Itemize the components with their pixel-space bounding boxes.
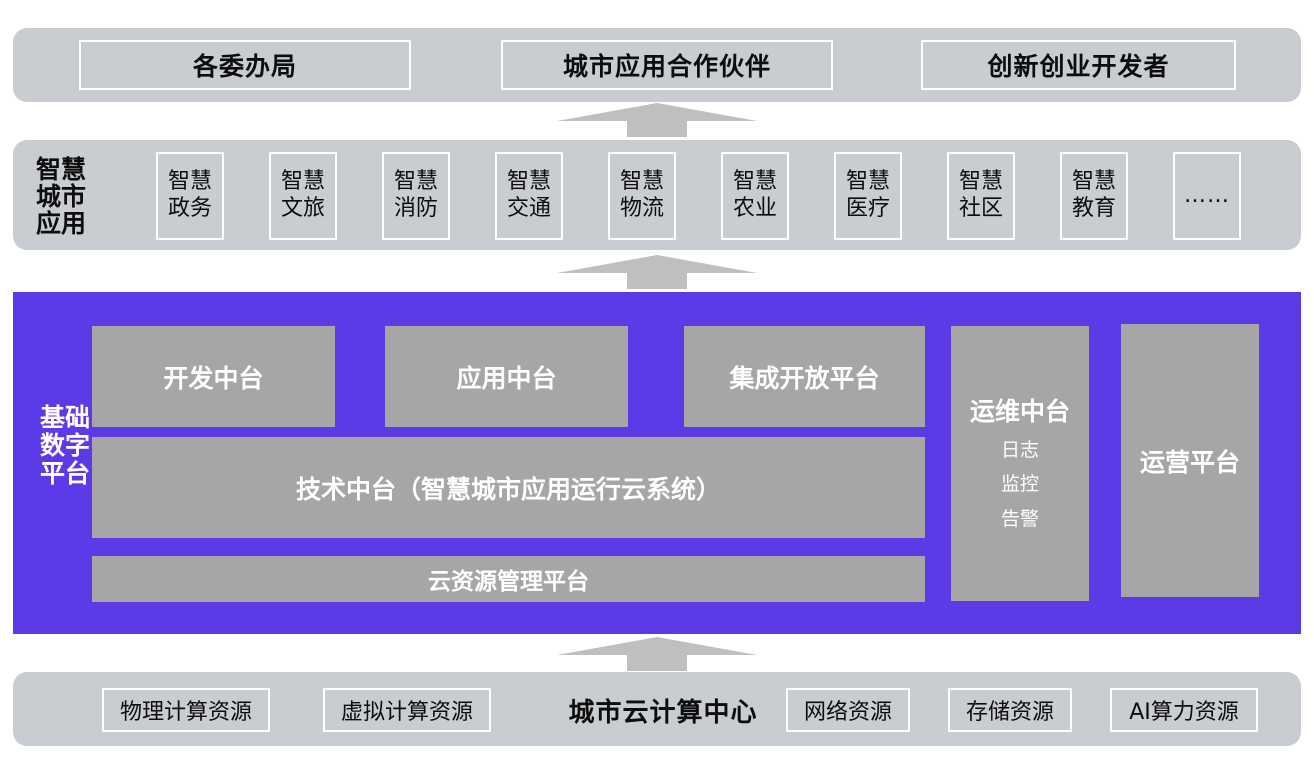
app-label-line2: 文旅 (281, 196, 325, 223)
platform-box-integration-open-platform[interactable]: 集成开放平台 (684, 326, 925, 427)
app-label-line2: 消防 (394, 196, 438, 223)
up-arrow-icon-top (557, 103, 757, 137)
app-box-smart-firefighting[interactable]: 智慧 消防 (382, 152, 450, 240)
app-label-line1: 智慧 (281, 169, 325, 196)
app-label-line2: 医疗 (846, 196, 890, 223)
resource-box-physical-compute[interactable]: 物理计算资源 (102, 688, 270, 732)
app-box-smart-healthcare[interactable]: 智慧 医疗 (834, 152, 902, 240)
app-box-smart-government[interactable]: 智慧 政务 (156, 152, 224, 240)
apps-side-label-line3: 应用 (36, 210, 86, 237)
top-consumer-bar: 各委办局 城市应用合作伙伴 创新创业开发者 (13, 28, 1301, 102)
top-box-innovation-developers[interactable]: 创新创业开发者 (921, 40, 1236, 90)
city-cloud-center-title: 城市云计算中心 (555, 688, 771, 732)
up-arrow-icon-bottom (557, 637, 757, 671)
up-arrow-icon-middle (557, 255, 757, 289)
resource-box-storage[interactable]: 存储资源 (948, 688, 1072, 732)
app-label-line2: 政务 (168, 196, 212, 223)
ops-sub-item-monitor: 监控 (1001, 474, 1039, 495)
platform-box-dev-mid-platform[interactable]: 开发中台 (92, 326, 335, 427)
platform-side-label-line1: 基础 (40, 404, 90, 432)
app-label-line1: 智慧 (620, 169, 664, 196)
resource-box-network[interactable]: 网络资源 (786, 688, 910, 732)
app-label-line2: 农业 (733, 196, 777, 223)
app-label-line1: 智慧 (394, 169, 438, 196)
platform-box-ops-mid-platform[interactable]: 运维中台 日志 监控 告警 (951, 326, 1089, 601)
app-label-line1: 智慧 (507, 169, 551, 196)
platform-box-app-mid-platform[interactable]: 应用中台 (385, 326, 628, 427)
platform-side-label: 基础 数字 平台 (32, 404, 98, 488)
app-label-line1: 智慧 (846, 169, 890, 196)
app-label-line2: 物流 (620, 196, 664, 223)
app-box-smart-logistics[interactable]: 智慧 物流 (608, 152, 676, 240)
platform-side-label-line3: 平台 (40, 460, 90, 488)
resource-box-virtual-compute[interactable]: 虚拟计算资源 (323, 688, 491, 732)
ops-mid-platform-title: 运维中台 (970, 398, 1070, 426)
platform-box-cloud-resource-management[interactable]: 云资源管理平台 (92, 556, 925, 602)
app-box-smart-transport[interactable]: 智慧 交通 (495, 152, 563, 240)
apps-row-side-label: 智慧 城市 应用 (24, 152, 98, 240)
app-label-line2: 交通 (507, 196, 551, 223)
smart-city-application-bar: 智慧 城市 应用 智慧 政务 智慧 文旅 智慧 消防 智慧 交通 智慧 物流 智… (13, 140, 1301, 250)
app-box-more-ellipsis[interactable]: …… (1173, 152, 1241, 240)
platform-box-tech-mid-platform[interactable]: 技术中台（智慧城市应用运行云系统） (92, 437, 925, 538)
app-box-smart-agriculture[interactable]: 智慧 农业 (721, 152, 789, 240)
apps-side-label-line1: 智慧 (36, 156, 86, 183)
top-box-city-app-partners[interactable]: 城市应用合作伙伴 (501, 40, 833, 90)
ops-sub-item-log: 日志 (1001, 440, 1039, 461)
app-label-line1: 智慧 (959, 169, 1003, 196)
app-label-line1: 智慧 (733, 169, 777, 196)
city-cloud-computing-center-bar: 物理计算资源 虚拟计算资源 城市云计算中心 网络资源 存储资源 AI算力资源 (13, 672, 1301, 746)
platform-box-operation-platform[interactable]: 运营平台 (1121, 324, 1259, 597)
platform-side-label-line2: 数字 (40, 432, 90, 460)
app-label-line1: 智慧 (168, 169, 212, 196)
app-box-smart-community[interactable]: 智慧 社区 (947, 152, 1015, 240)
resource-box-ai-compute[interactable]: AI算力资源 (1110, 688, 1258, 732)
top-box-government[interactable]: 各委办局 (79, 40, 411, 90)
app-box-smart-culture-tourism[interactable]: 智慧 文旅 (269, 152, 337, 240)
app-box-smart-education[interactable]: 智慧 教育 (1060, 152, 1128, 240)
app-label-line2: 社区 (959, 196, 1003, 223)
apps-side-label-line2: 城市 (36, 183, 86, 210)
architecture-diagram: 各委办局 城市应用合作伙伴 创新创业开发者 智慧 城市 应用 智慧 政务 智慧 … (0, 0, 1314, 759)
ops-sub-item-alarm: 告警 (1001, 509, 1039, 530)
app-label-line1: 智慧 (1072, 169, 1116, 196)
app-label-line2: 教育 (1072, 196, 1116, 223)
